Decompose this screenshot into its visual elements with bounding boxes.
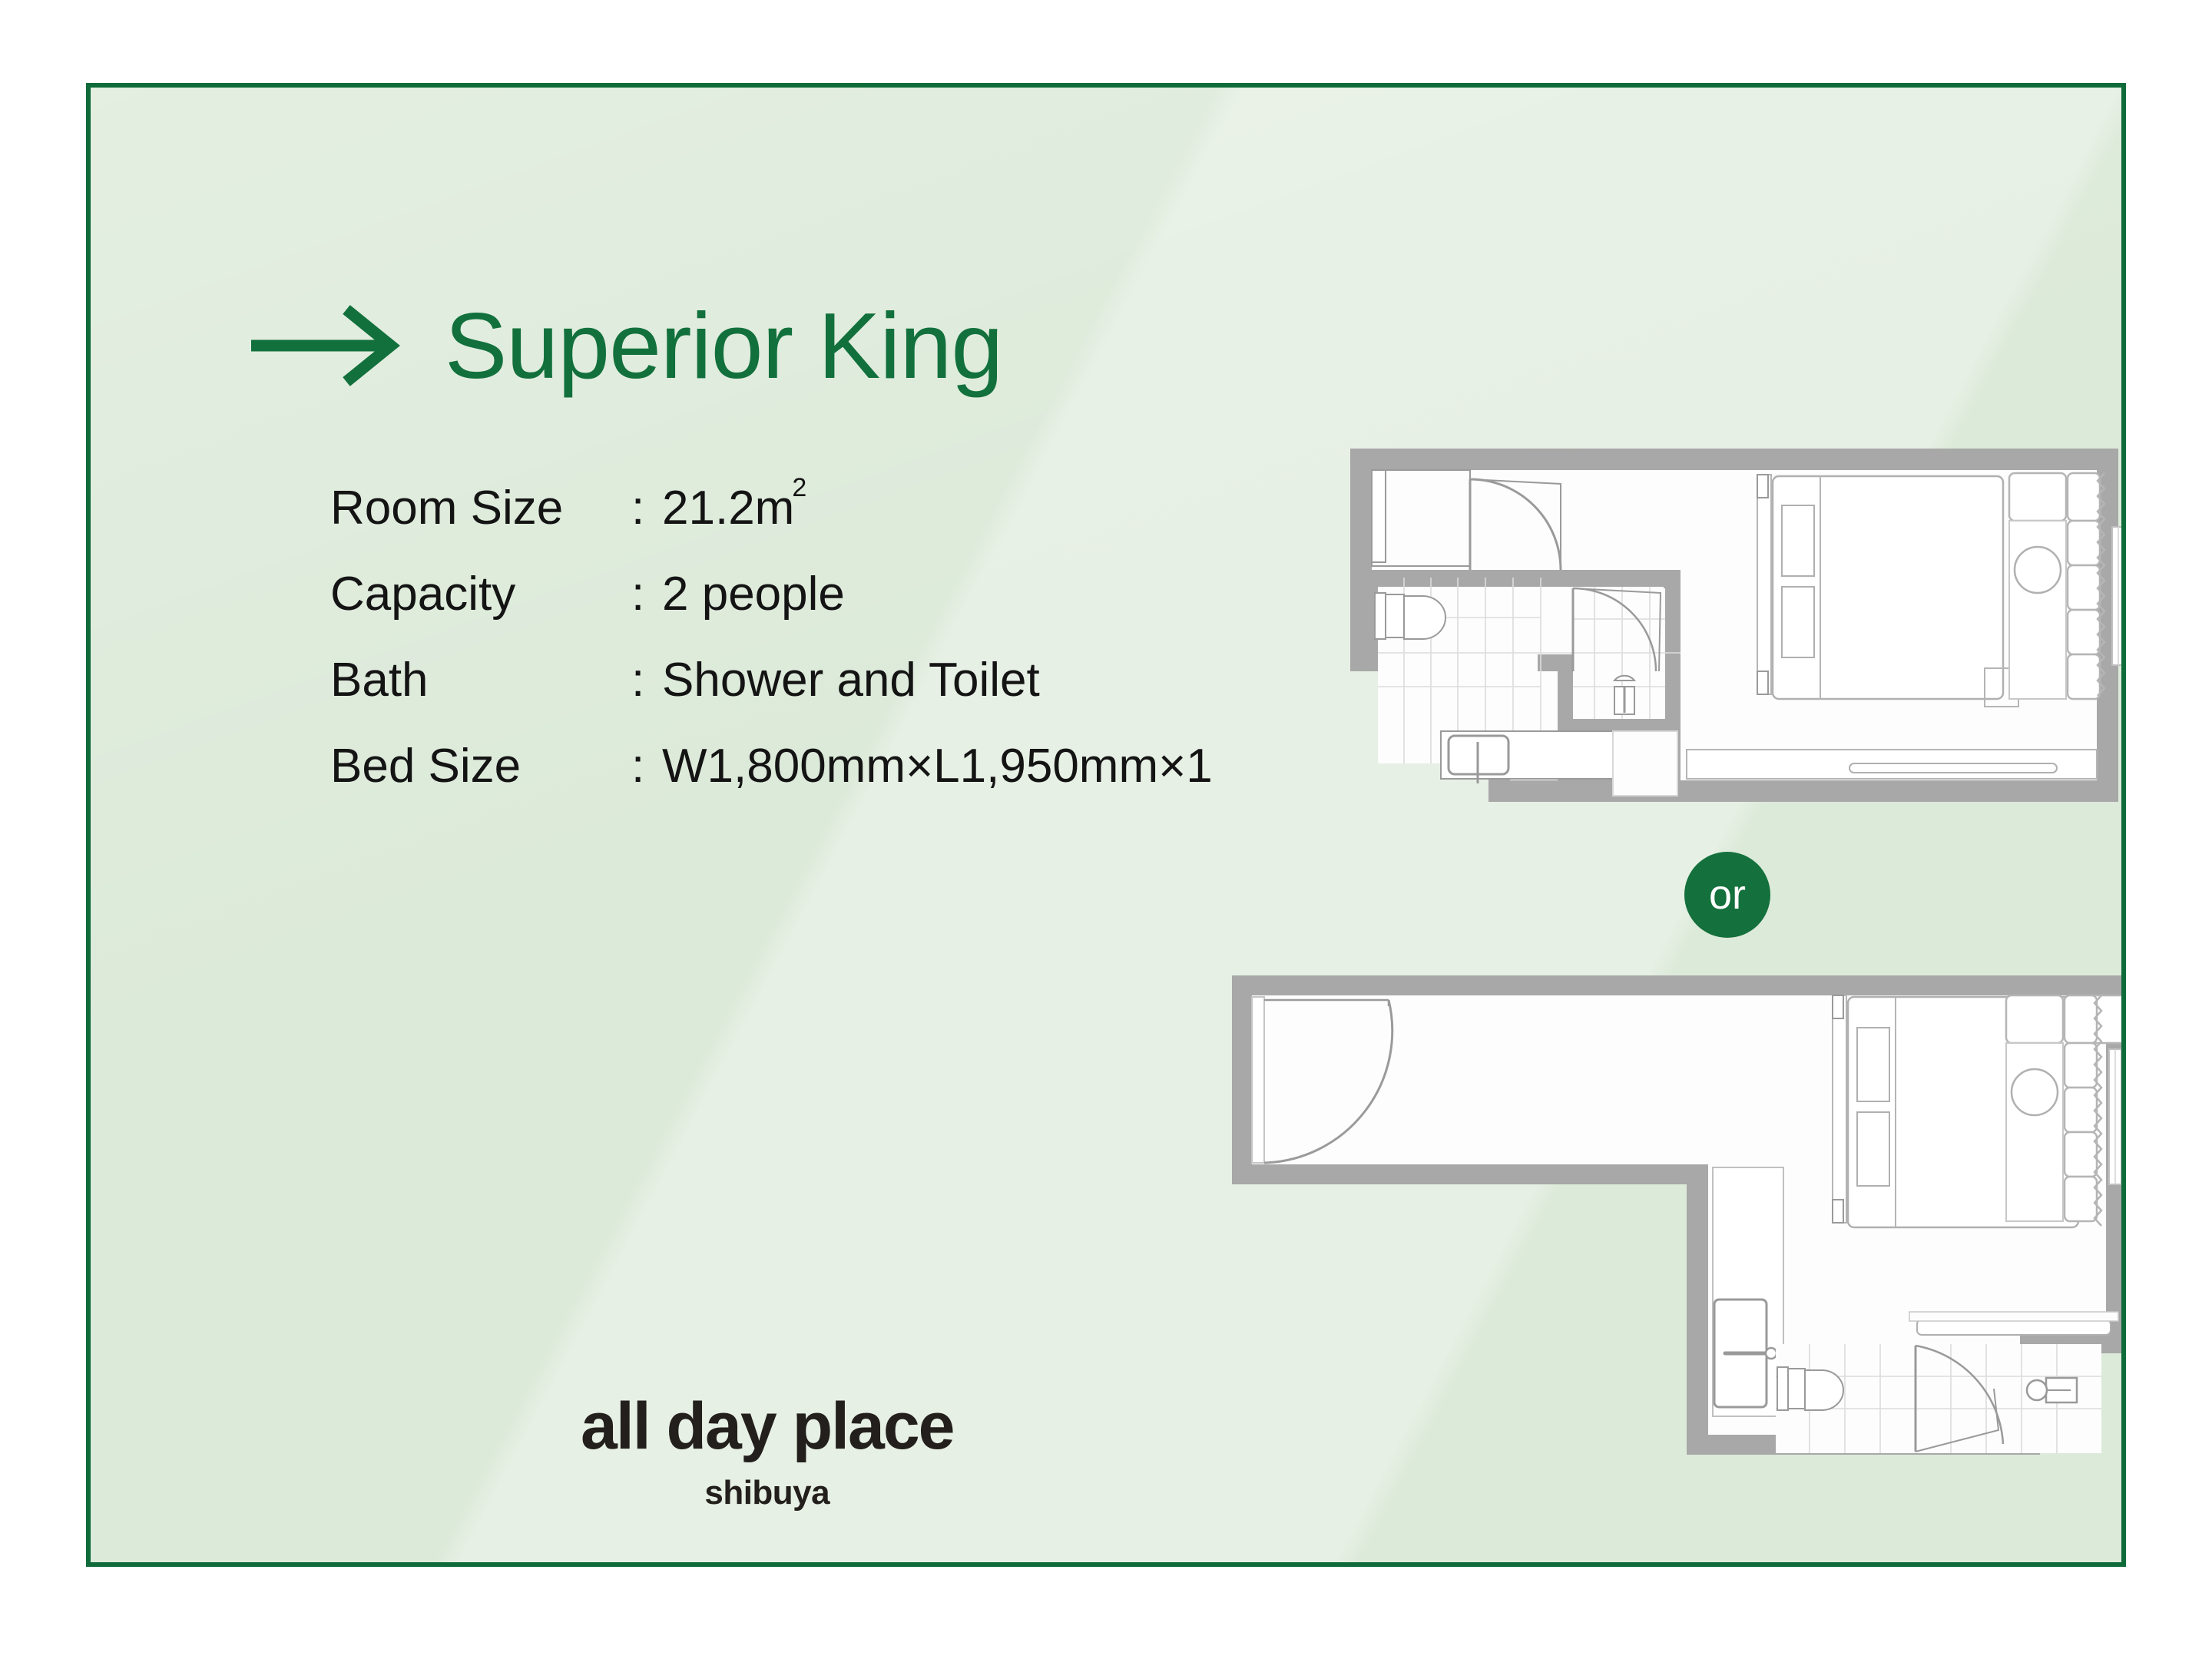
desk-counter-icon <box>1687 750 2097 779</box>
spec-value-text: 2 people <box>662 567 845 621</box>
round-table-icon <box>2015 547 2061 593</box>
arrow-right-icon <box>248 303 402 388</box>
spec-value-text: W1,800mm×L1,950mm×1 <box>662 739 1213 793</box>
spec-value-superscript: 2 <box>792 473 806 502</box>
plan-a-bathroom <box>1356 570 1681 800</box>
spec-value-text: Shower and Toilet <box>662 653 1040 707</box>
room-info-card: Superior King Room Size : 21.2m2 Capacit… <box>86 83 2126 1567</box>
spec-row-room-size: Room Size : 21.2m2 <box>330 481 1213 567</box>
spec-label: Bath <box>330 653 631 707</box>
spec-label: Capacity <box>330 567 631 621</box>
round-table-icon <box>2012 1069 2058 1115</box>
spec-label: Room Size <box>330 481 631 535</box>
spec-colon: : <box>631 653 662 707</box>
pillow-icon <box>1782 505 1814 576</box>
spec-colon: : <box>631 739 662 793</box>
toilet-icon <box>1777 1367 1843 1410</box>
pillow-icon <box>1857 1112 1889 1186</box>
page-title: Superior King <box>248 299 1002 392</box>
spec-colon: : <box>631 481 662 535</box>
spec-label: Bed Size <box>330 739 631 793</box>
spec-value: 21.2m2 <box>662 481 809 535</box>
room-title-text: Superior King <box>445 299 1002 392</box>
plan-b-bathroom <box>1776 1344 2101 1453</box>
vanity-counter-icon <box>1441 731 1616 783</box>
spec-row-bed-size: Bed Size : W1,800mm×L1,950mm×1 <box>330 739 1213 825</box>
pillow-icon <box>1782 587 1814 657</box>
hotel-logo: all day place shibuya <box>581 1393 954 1510</box>
washbasin-icon <box>2027 1378 2077 1402</box>
wardrobe-icon <box>1713 1167 1783 1416</box>
logo-brand-name: all day place <box>581 1393 954 1459</box>
spec-value-text: 21.2m <box>662 482 794 535</box>
or-badge-label: or <box>1709 874 1746 916</box>
spec-row-bath: Bath : Shower and Toilet <box>330 653 1213 739</box>
or-badge: or <box>1684 852 1770 938</box>
desk-counter-icon <box>1909 1312 2118 1335</box>
floorplan-layout-b <box>1226 969 2126 1461</box>
window-icon <box>2112 527 2124 665</box>
window-icon <box>2109 1049 2121 1184</box>
room-spec-list: Room Size : 21.2m2 Capacity : 2 people B… <box>330 481 1213 825</box>
spec-row-capacity: Capacity : 2 people <box>330 567 1213 653</box>
logo-location: shibuya <box>581 1476 954 1510</box>
bed-icon <box>1757 475 2018 707</box>
floorplan-layout-a <box>1343 441 2126 825</box>
toilet-icon <box>1375 593 1445 639</box>
pillow-icon <box>1857 1028 1889 1101</box>
spec-colon: : <box>631 567 662 621</box>
